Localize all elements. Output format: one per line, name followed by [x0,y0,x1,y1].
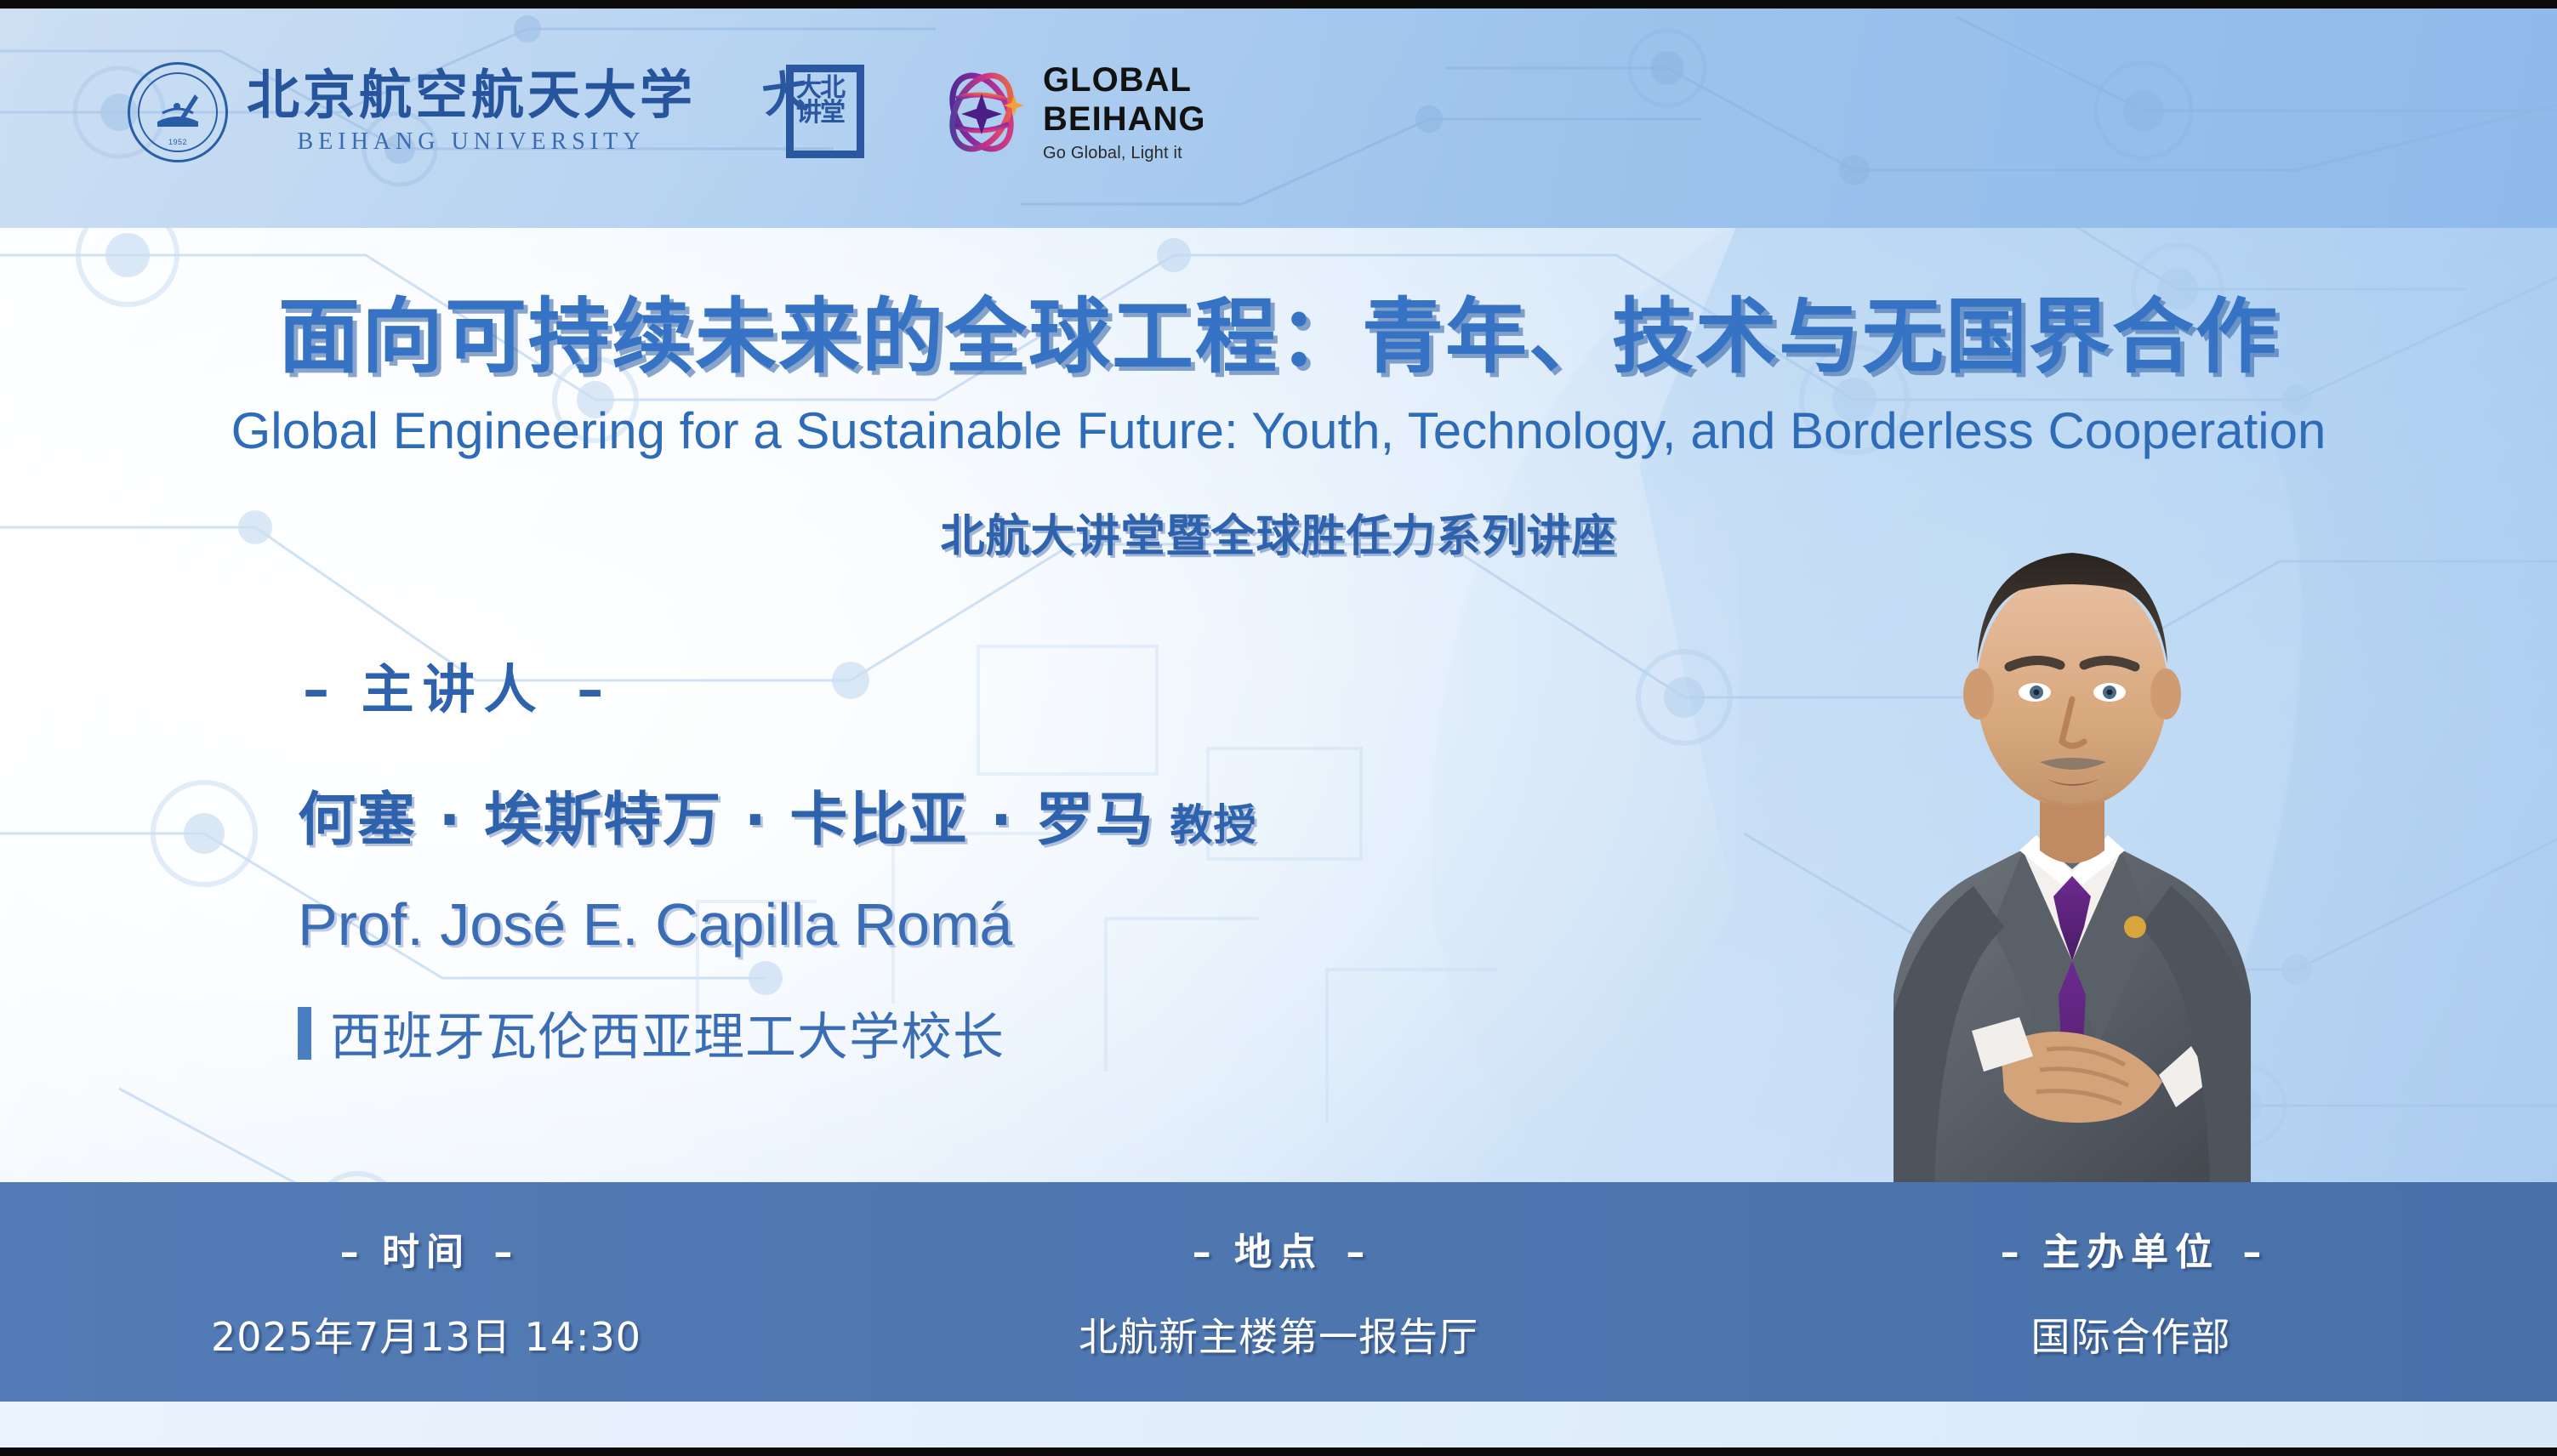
title-series: 北航大讲堂暨全球胜任力系列讲座 [0,500,2557,564]
footer-dash-left-time: – [337,1231,362,1274]
affiliation-accent-bar [298,1007,311,1060]
footer-dash-right-time: – [490,1231,515,1274]
speaker-section-label: – 主讲人 – [298,646,1257,723]
bottom-edge-bar [0,1447,2557,1456]
footer-dash-right-venue: – [1342,1231,1368,1274]
speaker-name-chinese-text: 何塞 · 埃斯特万 · 卡比亚 · 罗马 [298,787,1155,854]
global-beihang-globe-icon [936,65,1028,160]
footer-value-time: 2025年7月13日 14:30 [0,1306,852,1362]
speaker-title-suffix: 教授 [1170,800,1257,850]
beihang-emblem-icon [154,93,202,132]
footer-label-venue-text: 地点 [1234,1231,1323,1274]
footer-column-venue: – 地点 – 北航新主楼第一报告厅 [852,1221,1705,1362]
footer-label-time: – 时间 – [0,1221,852,1276]
lecture-logo-glyph-bottom: 讲堂 [796,101,857,126]
speaker-name-chinese: 何塞 · 埃斯特万 · 卡比亚 · 罗马教授 [298,772,1257,856]
speaker-name-english: Prof. José E. Capilla Romá [298,890,1257,958]
footer-dash-left-venue: – [1189,1231,1215,1274]
logo-beihang-university: 1952 北京航空航天大学 BEIHANG UNIVERSITY [128,62,696,162]
footer-label-organizer: – 主办单位 – [1705,1221,2557,1276]
footer-info-bar: – 时间 – 2025年7月13日 14:30 – 地点 – 北航新主楼第一报告… [0,1182,2557,1402]
footer-value-venue: 北航新主楼第一报告厅 [852,1306,1705,1362]
speaker-block: – 主讲人 – 何塞 · 埃斯特万 · 卡比亚 · 罗马教授 Prof. Jos… [298,646,1257,1070]
footer-bottom-strip [0,1402,2557,1447]
speaker-label-text: 主讲人 [362,658,545,720]
title-chinese: 面向可持续未来的全球工程：青年、技术与无国界合作 [0,270,2557,389]
speaker-label-dash-right: – [572,658,608,720]
footer-dash-left-organizer: – [1997,1231,2023,1274]
logo-global-beihang: GLOBAL BEIHANG Go Global, Light it [936,63,1205,162]
footer-value-organizer: 国际合作部 [1705,1306,2557,1362]
logo-row: 1952 北京航空航天大学 BEIHANG UNIVERSITY 大 大北 讲堂 [128,53,1205,172]
speaker-label-dash-left: – [298,658,334,720]
top-edge-bar [0,0,2557,9]
footer-column-time: – 时间 – 2025年7月13日 14:30 [0,1221,852,1362]
global-beihang-word-1: GLOBAL [1043,63,1205,97]
footer-dash-right-organizer: – [2239,1231,2264,1274]
speaker-affiliation: 西班牙瓦伦西亚理工大学校长 [298,996,1257,1070]
global-beihang-tagline: Go Global, Light it [1043,145,1205,162]
beihang-name-en: BEIHANG UNIVERSITY [247,128,696,156]
seal-year: 1952 [168,138,187,146]
lecture-logo-inner-glyphs: 大北 讲堂 [796,77,857,125]
footer-label-organizer-text: 主办单位 [2042,1231,2219,1274]
global-beihang-word-2: BEIHANG [1043,102,1205,136]
footer-label-venue: – 地点 – [852,1221,1705,1276]
beihang-name-cn: 北京航空航天大学 [247,69,696,122]
title-english: Global Engineering for a Sustainable Fut… [0,401,2557,460]
footer-label-time-text: 时间 [382,1231,470,1274]
affiliation-text: 西班牙瓦伦西亚理工大学校长 [330,996,1005,1070]
lecture-poster: 1952 北京航空航天大学 BEIHANG UNIVERSITY 大 大北 讲堂 [0,0,2557,1456]
logo-beihang-lecture-hall: 大 大北 讲堂 [762,58,869,167]
footer-column-organizer: – 主办单位 – 国际合作部 [1705,1221,2557,1362]
beihang-seal-icon: 1952 [128,62,228,162]
